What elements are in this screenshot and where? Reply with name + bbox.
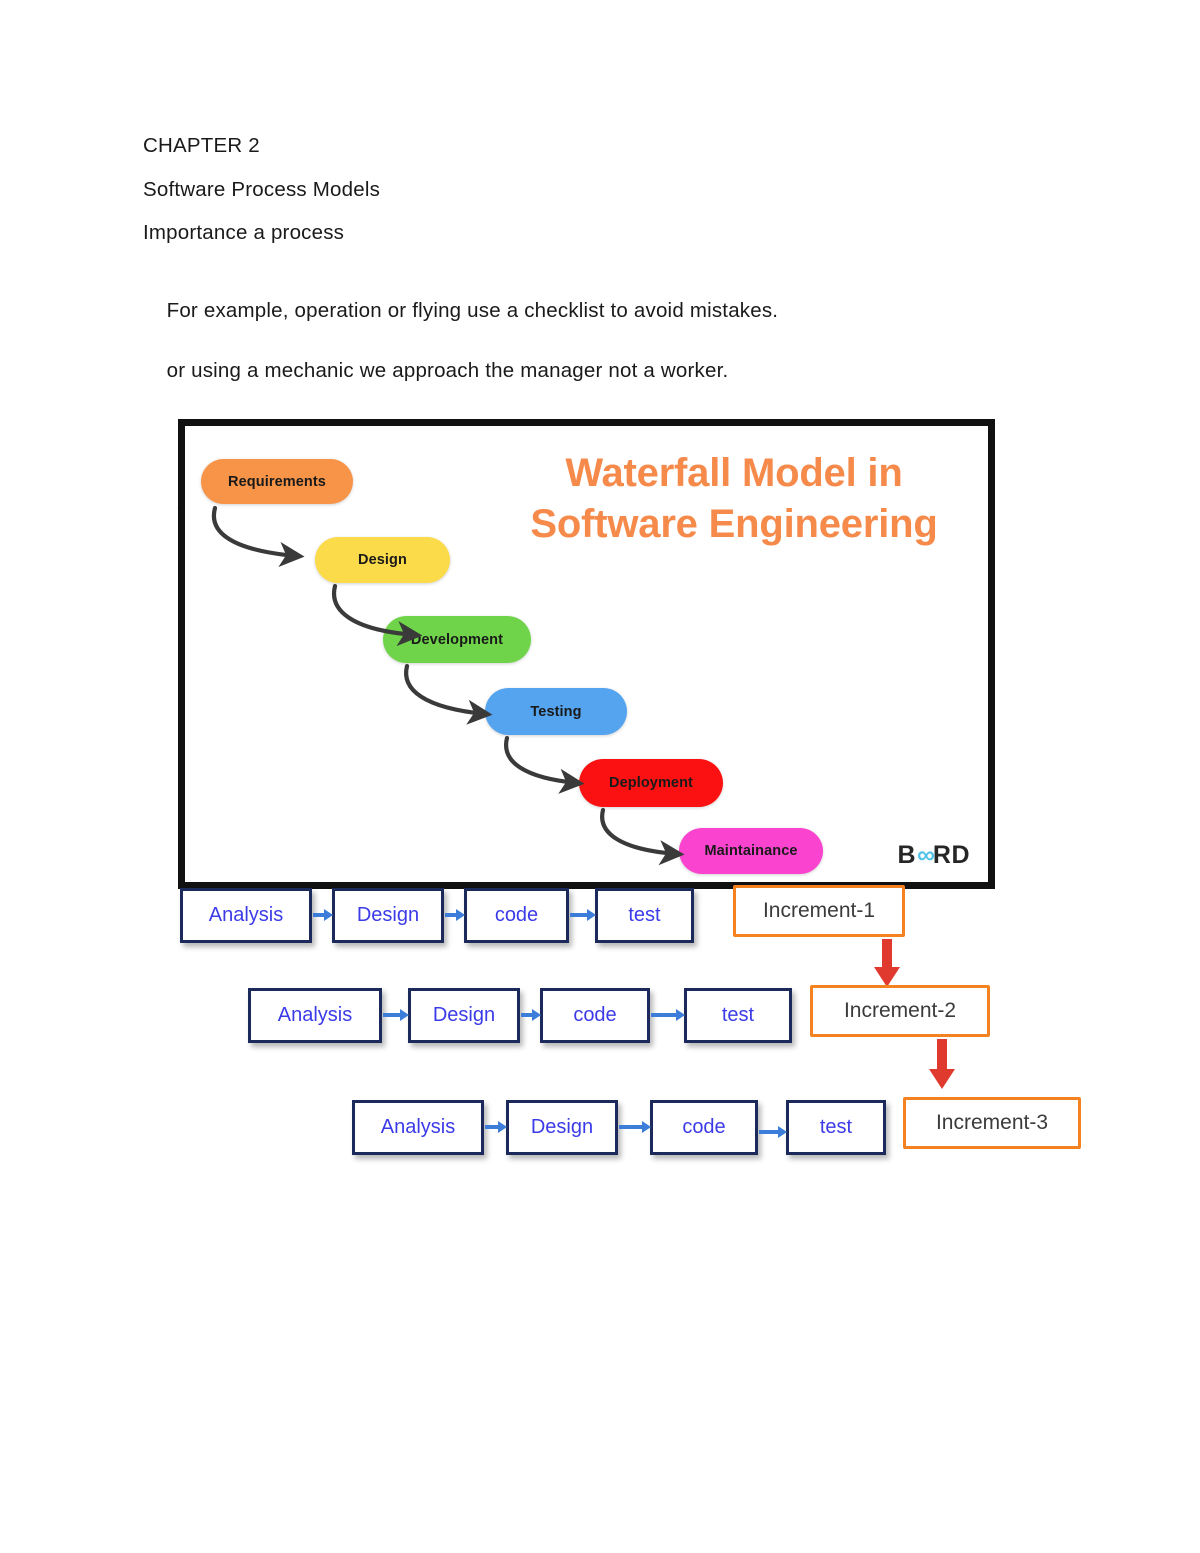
increment-row-1: Analysis Design code test Increment-1 (0, 880, 1200, 950)
row2-connector-analysis-design (382, 1007, 410, 1023)
board-logo-prefix: B (898, 841, 917, 870)
body-paragraph: For example, operation or flying use a c… (143, 267, 1043, 416)
section-heading: Importance a process (143, 223, 1043, 244)
row1-increment-box: Increment-1 (733, 885, 905, 937)
row3-stage-analysis: Analysis (352, 1100, 484, 1155)
chapter-heading: CHAPTER 2 (143, 136, 1043, 157)
row1-connector-code-test (569, 907, 597, 923)
row2-stage-test: test (684, 988, 792, 1043)
document-subtitle: Software Process Models (143, 180, 1043, 201)
row2-connector-design-code (520, 1007, 542, 1023)
board-watermark-logo: B∞RD (898, 841, 971, 870)
increment-row-2: Analysis Design code test Increment-2 (0, 980, 1200, 1050)
arrow-requirements-to-design (214, 508, 297, 556)
body-line-2: or using a mechanic we approach the mana… (167, 359, 729, 382)
body-line-1: For example, operation or flying use a c… (167, 299, 779, 322)
row2-connector-code-test (650, 1007, 686, 1023)
row3-connector-code-test (758, 1124, 788, 1140)
row2-stage-code: code (540, 988, 650, 1043)
row2-increment-box: Increment-2 (810, 985, 990, 1037)
row3-increment-box: Increment-3 (903, 1097, 1081, 1149)
increment-row-3: Analysis Design code test Increment-3 (0, 1092, 1200, 1162)
arrow-testing-to-deployment (506, 738, 577, 783)
row1-connector-analysis-design (312, 907, 334, 923)
incremental-model-figure: Analysis Design code test Increment-1 An… (0, 880, 1200, 1180)
row3-connector-analysis-design (484, 1119, 508, 1135)
waterfall-arrows-group (185, 426, 988, 882)
row1-stage-analysis: Analysis (180, 888, 312, 943)
row1-stage-test: test (595, 888, 694, 943)
waterfall-canvas: Waterfall Model in Software Engineering … (185, 426, 988, 882)
arrow-deployment-to-maintainance (602, 810, 677, 854)
row3-stage-test: test (786, 1100, 886, 1155)
board-logo-suffix: RD (933, 841, 970, 870)
arrow-development-to-testing (406, 666, 485, 714)
arrow-design-to-development (334, 586, 415, 635)
row3-connector-design-code (618, 1119, 652, 1135)
row2-stage-analysis: Analysis (248, 988, 382, 1043)
row3-stage-code: code (650, 1100, 758, 1155)
board-logo-infinity-icon: ∞ (917, 841, 932, 870)
waterfall-model-figure: Waterfall Model in Software Engineering … (178, 419, 995, 889)
row1-stage-code: code (464, 888, 569, 943)
row1-stage-design: Design (332, 888, 444, 943)
row2-stage-design: Design (408, 988, 520, 1043)
row1-connector-design-code (444, 907, 466, 923)
row3-stage-design: Design (506, 1100, 618, 1155)
increment-2-to-3-arrow (924, 1037, 960, 1091)
